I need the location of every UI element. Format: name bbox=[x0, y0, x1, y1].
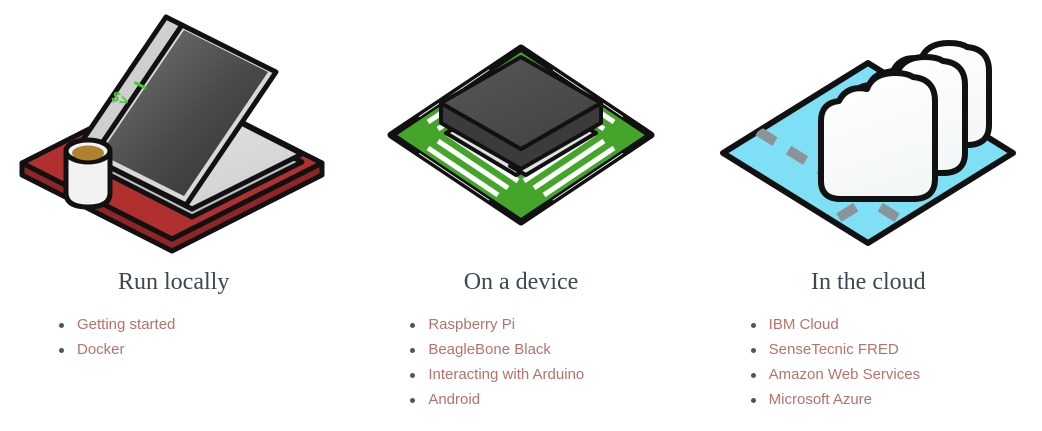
link-docker[interactable]: Docker bbox=[77, 341, 125, 358]
column-in-the-cloud: In the cloud IBM Cloud SenseTecnic FRED … bbox=[695, 0, 1042, 431]
cloud-platform-illustration bbox=[695, 0, 1042, 268]
page-title-on-a-device: On a device bbox=[464, 268, 579, 294]
list-item: Microsoft Azure bbox=[750, 390, 920, 410]
list-item: IBM Cloud bbox=[750, 315, 920, 335]
link-android[interactable]: Android bbox=[428, 391, 480, 408]
link-list-on-a-device: Raspberry Pi BeagleBone Black Interactin… bbox=[409, 315, 584, 415]
laptop-on-desk-illustration: $> bbox=[0, 0, 347, 268]
link-interacting-with-arduino[interactable]: Interacting with Arduino bbox=[428, 366, 584, 383]
list-item: Android bbox=[409, 390, 584, 410]
circuit-board-isometric-svg bbox=[366, 3, 676, 265]
link-getting-started[interactable]: Getting started bbox=[77, 316, 175, 333]
cloud-isometric-svg bbox=[703, 3, 1033, 265]
link-beaglebone-black[interactable]: BeagleBone Black bbox=[428, 341, 551, 358]
link-list-in-the-cloud: IBM Cloud SenseTecnic FRED Amazon Web Se… bbox=[750, 315, 920, 415]
list-item: Amazon Web Services bbox=[750, 365, 920, 385]
list-item: BeagleBone Black bbox=[409, 340, 584, 360]
column-on-a-device: On a device Raspberry Pi BeagleBone Blac… bbox=[347, 0, 694, 431]
link-amazon-web-services[interactable]: Amazon Web Services bbox=[769, 366, 920, 383]
list-item: Getting started bbox=[58, 315, 175, 335]
link-ibm-cloud[interactable]: IBM Cloud bbox=[769, 316, 839, 333]
link-list-run-locally: Getting started Docker bbox=[58, 315, 175, 365]
link-raspberry-pi[interactable]: Raspberry Pi bbox=[428, 316, 515, 333]
coffee-liquid bbox=[72, 146, 104, 161]
list-item: Interacting with Arduino bbox=[409, 365, 584, 385]
circuit-board-illustration bbox=[347, 0, 694, 268]
page-title-run-locally: Run locally bbox=[118, 268, 229, 294]
column-run-locally: $> Run locally Getting started Docker bbox=[0, 0, 347, 431]
platform-columns-row: $> Run locally Getting started Docker bbox=[0, 0, 1042, 431]
page-title-in-the-cloud: In the cloud bbox=[811, 268, 926, 294]
list-item: SenseTecnic FRED bbox=[750, 340, 920, 360]
coffee-mug bbox=[66, 140, 110, 207]
list-item: Docker bbox=[58, 340, 175, 360]
laptop-isometric-svg: $> bbox=[14, 3, 334, 265]
link-microsoft-azure[interactable]: Microsoft Azure bbox=[769, 391, 872, 408]
link-sensetecnic-fred[interactable]: SenseTecnic FRED bbox=[769, 341, 899, 358]
list-item: Raspberry Pi bbox=[409, 315, 584, 335]
